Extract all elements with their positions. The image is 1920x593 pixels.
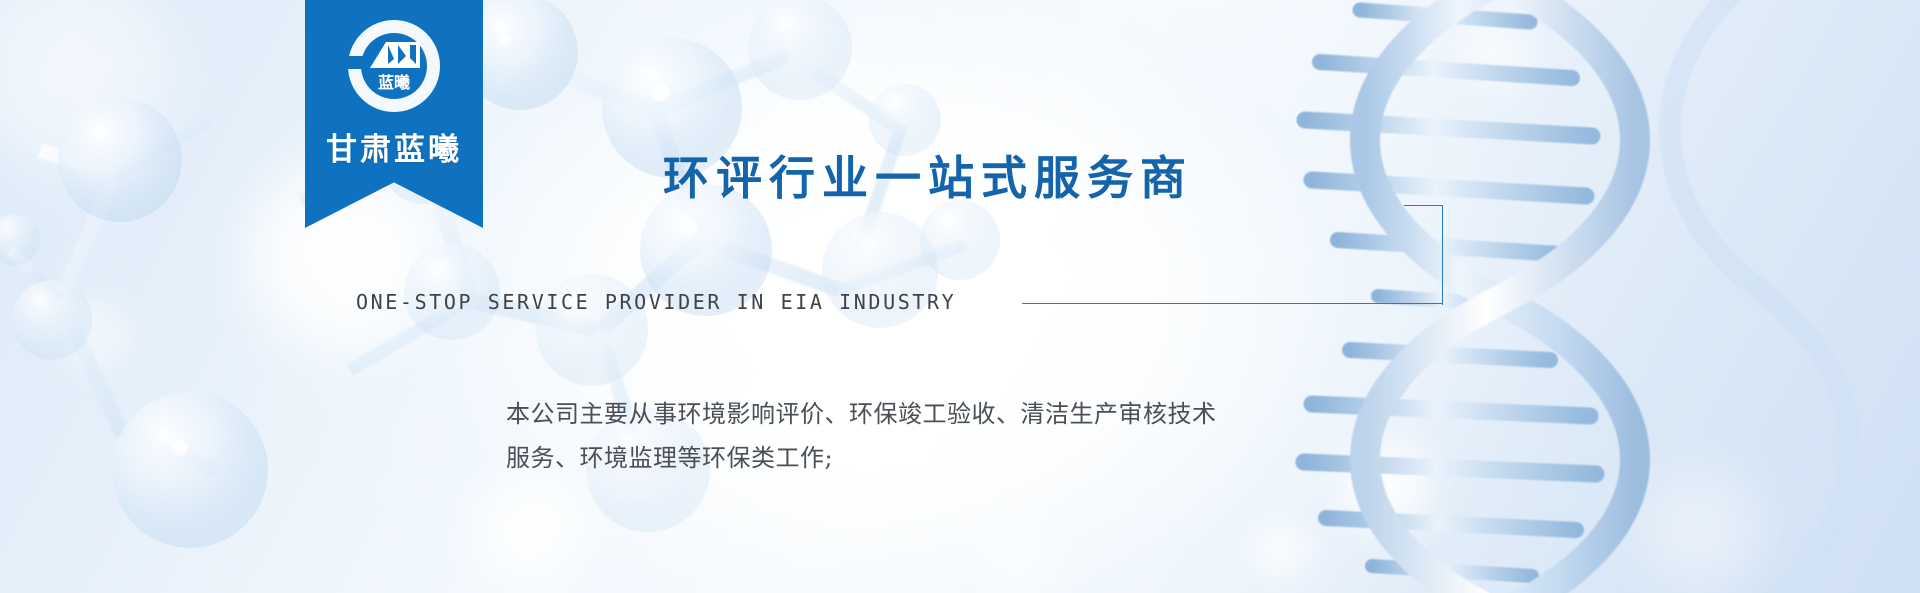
description-line-1: 本公司主要从事环境影响评价、环保竣工验收、清洁生产审核技术: [506, 392, 1466, 436]
bokeh-light-9: [1640, 470, 1760, 590]
bokeh-light-8: [760, 40, 870, 150]
bokeh-light-3: [470, 470, 590, 590]
bokeh-light-7: [1250, 520, 1310, 580]
logo-wrap: 蓝曦: [305, 8, 483, 124]
page-title: 环评行业一站式服务商: [663, 150, 1193, 206]
bokeh-light-5: [1460, 20, 1530, 90]
page-subtitle: ONE-STOP SERVICE PROVIDER IN EIA INDUSTR…: [356, 290, 956, 314]
molecule-background-art: [0, 0, 1920, 593]
logo-characters: 蓝曦: [378, 73, 410, 92]
company-description: 本公司主要从事环境影响评价、环保竣工验收、清洁生产审核技术 服务、环境监理等环保…: [506, 392, 1466, 480]
bokeh-light-6: [60, 300, 130, 370]
dna-helix-art: [1200, 0, 1920, 593]
ribbon-company-name: 甘肃蓝曦: [305, 124, 483, 169]
hero-banner: 蓝曦 甘肃蓝曦 环评行业一站式服务商 ONE-STOP SERVICE PROV…: [0, 0, 1920, 593]
headline-corner-bracket: [1404, 205, 1443, 305]
company-logo-icon: 蓝曦: [336, 12, 452, 120]
description-line-2: 服务、环境监理等环保类工作;: [506, 436, 1466, 480]
bokeh-light-1: [0, 0, 170, 170]
headline-underline-rule: [1022, 303, 1442, 304]
bokeh-light-10: [980, 520, 1060, 593]
brand-ribbon: 蓝曦 甘肃蓝曦: [305, 0, 483, 228]
